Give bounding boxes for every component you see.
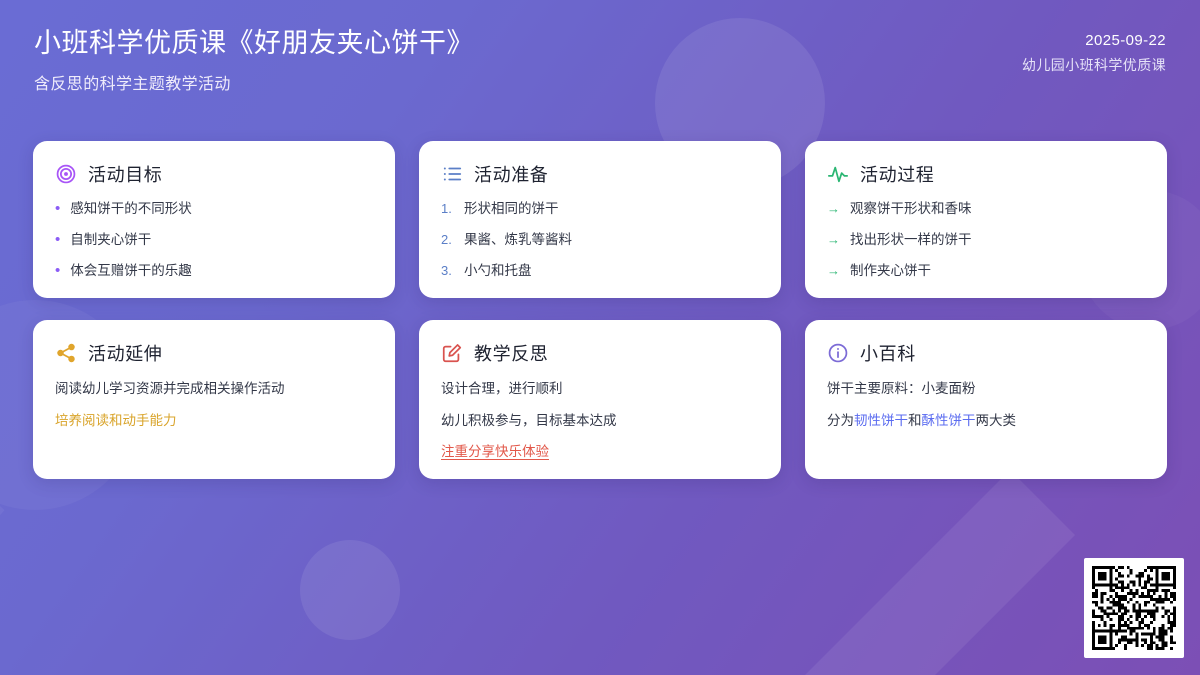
list-item-label: 感知饼干的不同形状 [70, 201, 192, 218]
list-item-marker: • [55, 232, 60, 247]
meta-block: 2025-09-22 幼儿园小班科学优质课 [1022, 26, 1166, 75]
course-category: 幼儿园小班科学优质课 [1022, 55, 1166, 75]
list-item-marker: → [827, 201, 840, 217]
list-icon [441, 163, 463, 185]
list-item-label: 果酱、炼乳等酱料 [464, 232, 572, 249]
slide-header: 小班科学优质课《好朋友夹心饼干》 含反思的科学主题教学活动 2025-09-22… [0, 0, 1200, 130]
page-subtitle: 含反思的科学主题教学活动 [34, 70, 474, 94]
target-icon [55, 163, 77, 185]
highlight-text[interactable]: 注重分享快乐体验 [441, 443, 759, 461]
card-teaching-reflection: 教学反思设计合理，进行顺利幼儿积极参与，目标基本达成注重分享快乐体验 [419, 320, 781, 479]
paragraph-text: 阅读幼儿学习资源并完成相关操作活动 [55, 380, 373, 398]
card-activity-goals: 活动目标•感知饼干的不同形状•自制夹心饼干•体会互赠饼干的乐趣 [33, 141, 395, 298]
text-segment: 两大类 [976, 413, 1017, 428]
card-body: 饼干主要原料：小麦面粉分为韧性饼干和酥性饼干两大类 [827, 380, 1145, 429]
list-item-label: 自制夹心饼干 [70, 232, 151, 249]
card-title: 教学反思 [474, 340, 548, 366]
card-activity-extension: 活动延伸阅读幼儿学习资源并完成相关操作活动培养阅读和动手能力 [33, 320, 395, 479]
text-segment: 和 [908, 413, 922, 428]
text-segment: 饼干主要原料：小麦面粉 [827, 381, 976, 396]
list-item-marker: • [55, 201, 60, 216]
background-circle-decoration-2 [300, 540, 400, 640]
list-item-label: 找出形状一样的饼干 [850, 232, 972, 249]
list-item-marker: • [55, 263, 60, 278]
card-header: 活动过程 [827, 161, 1145, 187]
list-item: →观察饼干形状和香味 [827, 201, 1145, 218]
list-item-marker: → [827, 263, 840, 279]
card-header: 教学反思 [441, 340, 759, 366]
list-item-marker: 1. [441, 201, 454, 217]
card-header: 活动目标 [55, 161, 373, 187]
card-header: 活动延伸 [55, 340, 373, 366]
list-item: 3.小勺和托盘 [441, 263, 759, 280]
qr-code[interactable] [1084, 558, 1184, 658]
highlight-text: 培养阅读和动手能力 [55, 412, 373, 430]
date-label: 2025-09-22 [1022, 32, 1166, 49]
background-diagonal-bar-2 [0, 470, 5, 675]
card-title: 活动过程 [860, 161, 934, 187]
card-grid: 活动目标•感知饼干的不同形状•自制夹心饼干•体会互赠饼干的乐趣活动准备1.形状相… [33, 141, 1167, 479]
card-title: 活动目标 [88, 161, 162, 187]
list-item-label: 小勺和托盘 [464, 263, 532, 280]
page-title: 小班科学优质课《好朋友夹心饼干》 [34, 26, 474, 61]
card-title: 小百科 [860, 340, 916, 366]
list-item: •体会互赠饼干的乐趣 [55, 263, 373, 280]
card-title: 活动延伸 [88, 340, 162, 366]
paragraph-text: 饼干主要原料：小麦面粉 [827, 380, 1145, 398]
list-item: •感知饼干的不同形状 [55, 201, 373, 218]
card-header: 活动准备 [441, 161, 759, 187]
list-item: →找出形状一样的饼干 [827, 232, 1145, 249]
list-item-label: 观察饼干形状和香味 [850, 201, 972, 218]
title-block: 小班科学优质课《好朋友夹心饼干》 含反思的科学主题教学活动 [34, 26, 474, 94]
paragraph-text: 设计合理，进行顺利 [441, 380, 759, 398]
info-circle-icon [827, 342, 849, 364]
list-item: 1.形状相同的饼干 [441, 201, 759, 218]
list-item-marker: 2. [441, 232, 454, 248]
list-item: →制作夹心饼干 [827, 263, 1145, 280]
list-item-marker: → [827, 232, 840, 248]
text-segment: 分为 [827, 413, 854, 428]
highlight-term[interactable]: 酥性饼干 [922, 413, 976, 428]
paragraph-text: 幼儿积极参与，目标基本达成 [441, 412, 759, 430]
card-body: 阅读幼儿学习资源并完成相关操作活动培养阅读和动手能力 [55, 380, 373, 429]
list-item: 2.果酱、炼乳等酱料 [441, 232, 759, 249]
list-item-marker: 3. [441, 263, 454, 279]
paragraph-text: 分为韧性饼干和酥性饼干两大类 [827, 412, 1145, 430]
background-diagonal-bar-1 [777, 470, 1075, 675]
card-encyclopedia: 小百科饼干主要原料：小麦面粉分为韧性饼干和酥性饼干两大类 [805, 320, 1167, 479]
list-item: •自制夹心饼干 [55, 232, 373, 249]
card-activity-preparation: 活动准备1.形状相同的饼干2.果酱、炼乳等酱料3.小勺和托盘 [419, 141, 781, 298]
card-body: →观察饼干形状和香味→找出形状一样的饼干→制作夹心饼干 [827, 201, 1145, 280]
card-body: 设计合理，进行顺利幼儿积极参与，目标基本达成注重分享快乐体验 [441, 380, 759, 461]
card-header: 小百科 [827, 340, 1145, 366]
list-item-label: 制作夹心饼干 [850, 263, 931, 280]
card-title: 活动准备 [474, 161, 548, 187]
qr-code-image [1092, 566, 1176, 650]
list-item-label: 体会互赠饼干的乐趣 [70, 263, 192, 280]
card-body: •感知饼干的不同形状•自制夹心饼干•体会互赠饼干的乐趣 [55, 201, 373, 280]
highlight-term[interactable]: 韧性饼干 [854, 413, 908, 428]
share-icon [55, 342, 77, 364]
card-body: 1.形状相同的饼干2.果酱、炼乳等酱料3.小勺和托盘 [441, 201, 759, 280]
edit-square-icon [441, 342, 463, 364]
list-item-label: 形状相同的饼干 [464, 201, 559, 218]
pulse-icon [827, 163, 849, 185]
card-activity-process: 活动过程→观察饼干形状和香味→找出形状一样的饼干→制作夹心饼干 [805, 141, 1167, 298]
